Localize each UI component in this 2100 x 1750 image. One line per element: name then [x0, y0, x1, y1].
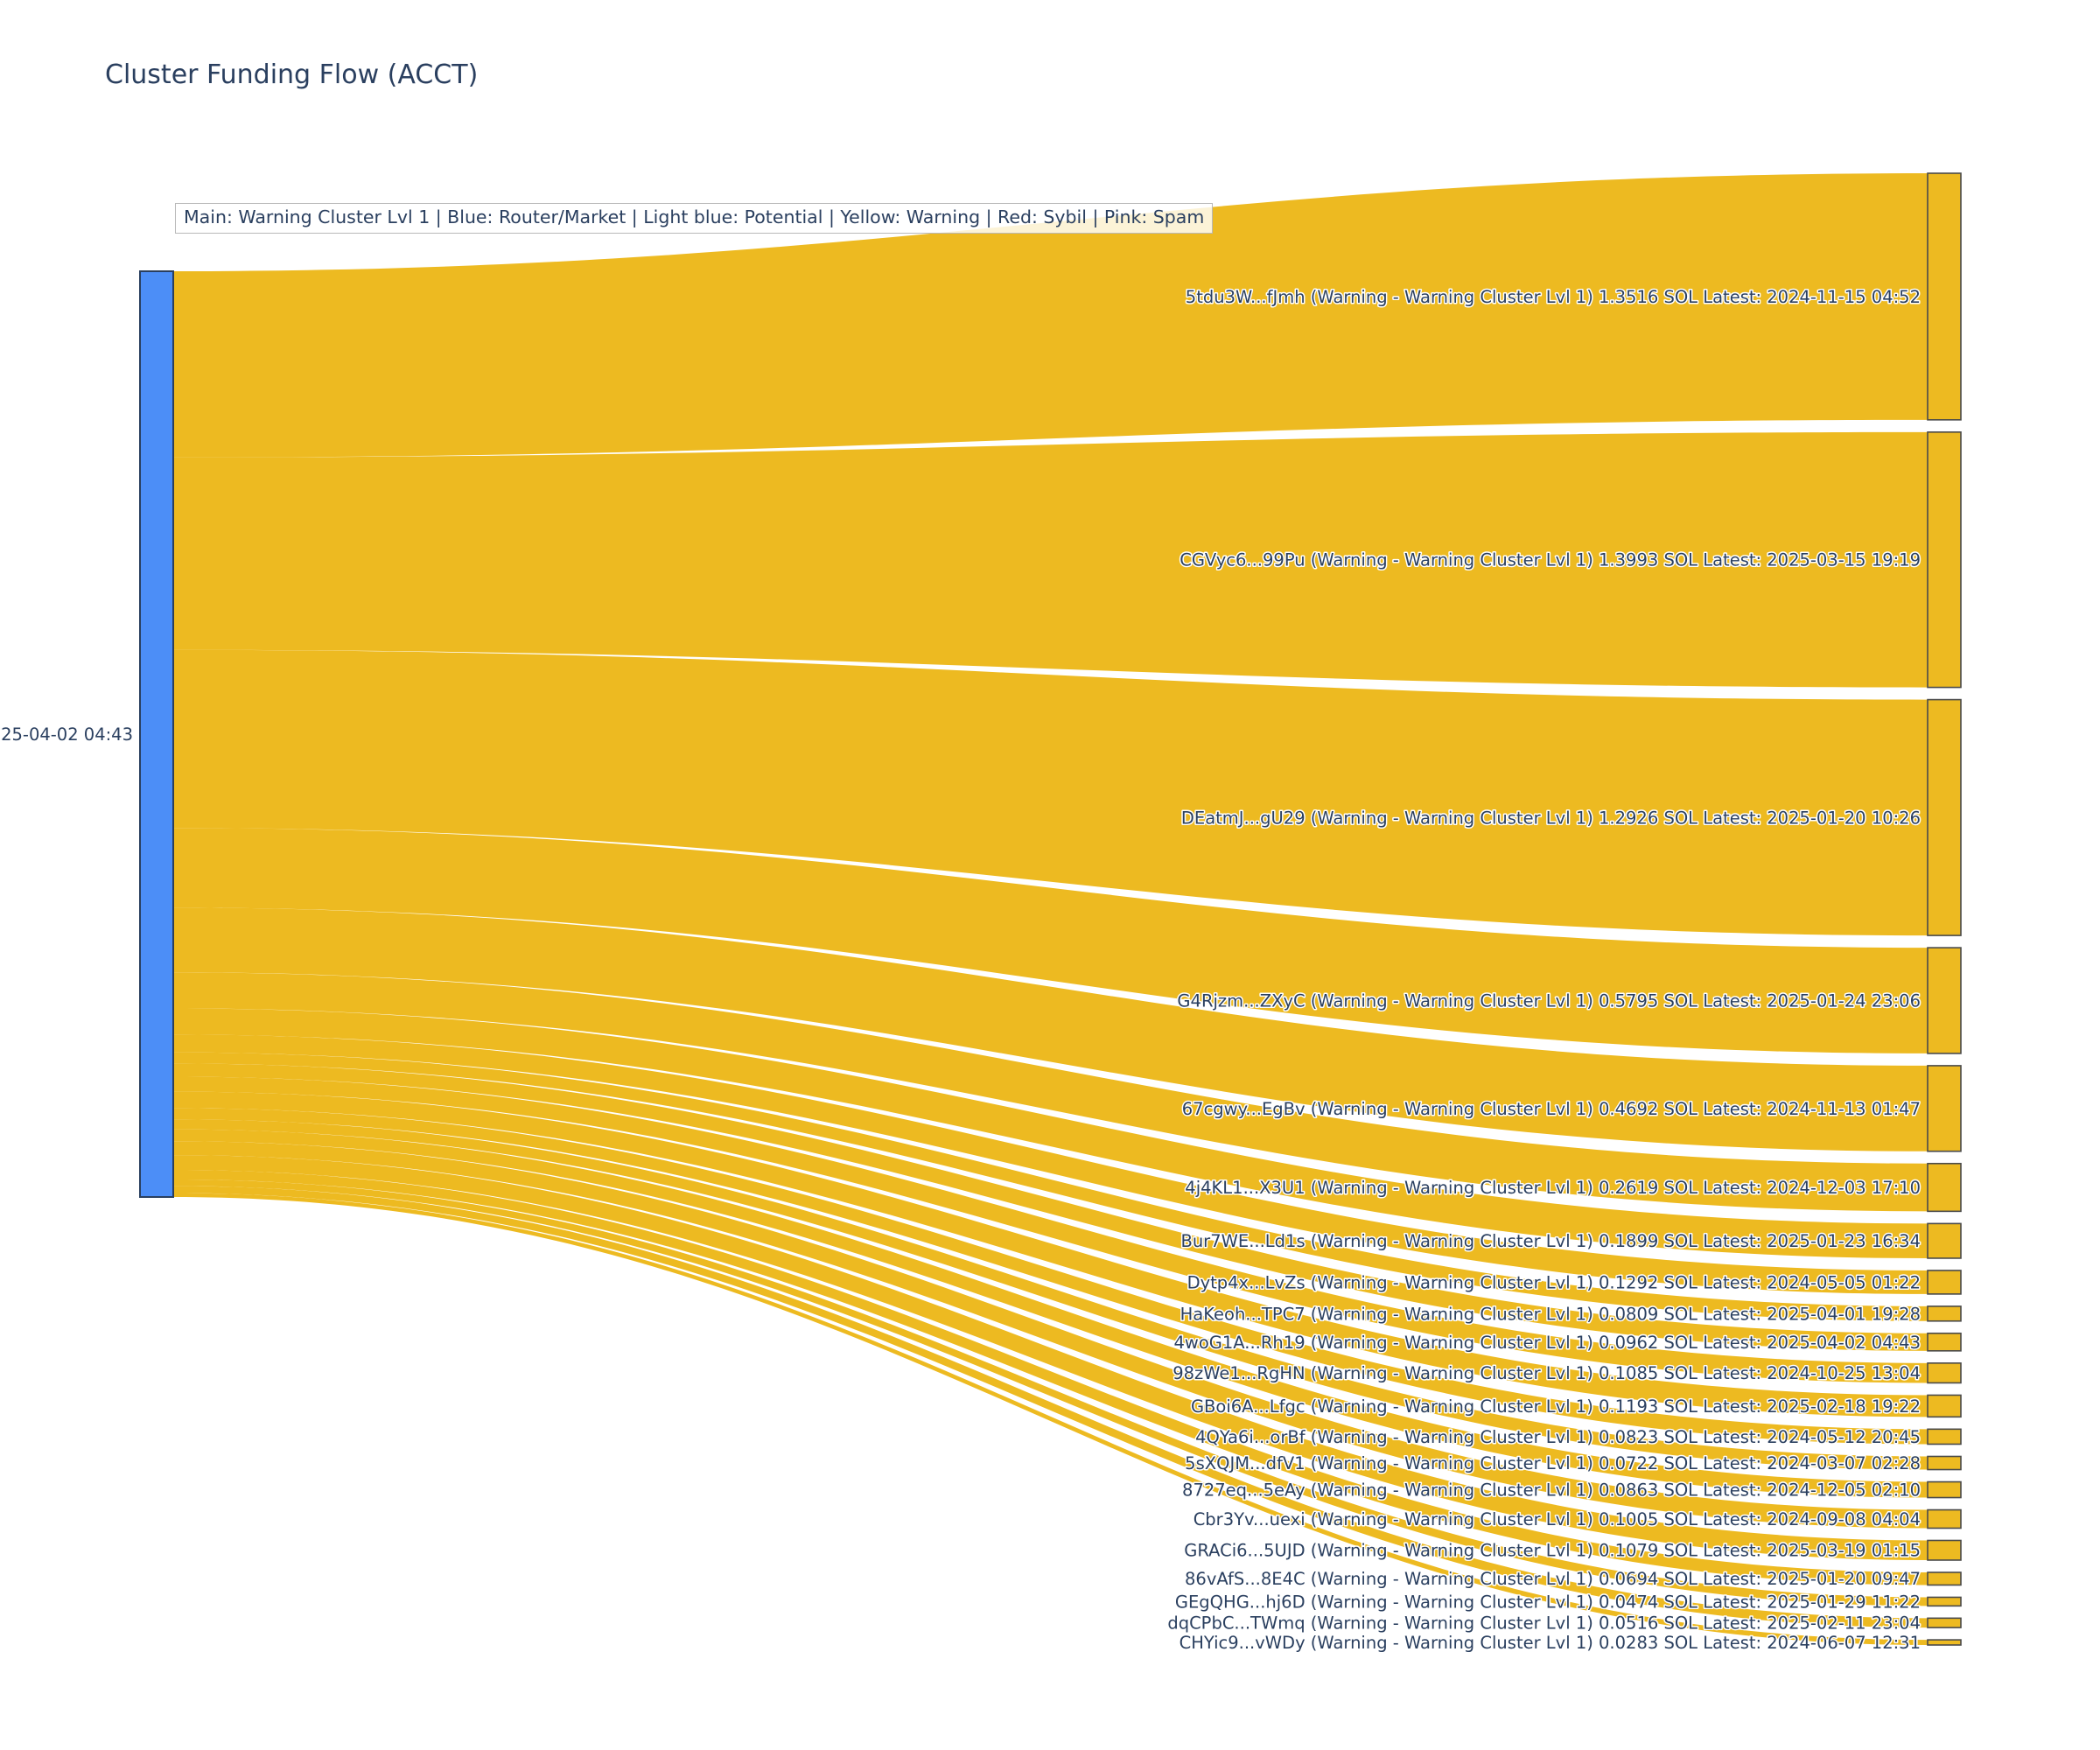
sankey-target-node[interactable] [1928, 1066, 1961, 1151]
sankey-target-node-label: Cbr3Yv...uexi (Warning - Warning Cluster… [1193, 1509, 1921, 1529]
sankey-target-node-label: GRACi6...5UJD (Warning - Warning Cluster… [1184, 1541, 1921, 1561]
sankey-target-node[interactable] [1928, 1333, 1961, 1351]
sankey-target-node[interactable] [1928, 1223, 1961, 1258]
sankey-target-node[interactable] [1928, 1510, 1961, 1529]
sankey-target-node[interactable] [1928, 432, 1961, 688]
sankey-target-node-label: 67cgwy...EgBv (Warning - Warning Cluster… [1182, 1099, 1921, 1119]
sankey-target-node[interactable] [1928, 1618, 1961, 1627]
sankey-source-node[interactable] [140, 271, 173, 1197]
sankey-links-group [173, 173, 1928, 1645]
sankey-target-node-label: GBoi6A...Lfgc (Warning - Warning Cluster… [1191, 1396, 1921, 1417]
sankey-target-node-label: 5tdu3W...fJmh (Warning - Warning Cluster… [1186, 287, 1921, 307]
sankey-target-node-label: CHYic9...vWDy (Warning - Warning Cluster… [1179, 1633, 1921, 1653]
sankey-source-node-label: H2PVM9...jRxF (Main: Warning Cluster Lvl… [0, 724, 133, 745]
sankey-target-node[interactable] [1928, 1164, 1961, 1212]
sankey-target-node-label: 4QYa6i...orBf (Warning - Warning Cluster… [1195, 1427, 1921, 1447]
sankey-target-node-label: dqCPbC...TWmq (Warning - Warning Cluster… [1167, 1613, 1921, 1634]
sankey-chart-root: Cluster Funding Flow (ACCT) H2PVM9...jRx… [0, 0, 2100, 1750]
sankey-target-node[interactable] [1928, 700, 1961, 936]
sankey-target-node-label: DEatmJ...gU29 (Warning - Warning Cluster… [1181, 808, 1921, 828]
sankey-target-node[interactable] [1928, 1540, 1961, 1559]
sankey-target-node[interactable] [1928, 1597, 1961, 1606]
sankey-target-node[interactable] [1928, 1456, 1961, 1469]
sankey-diagram: H2PVM9...jRxF (Main: Warning Cluster Lvl… [0, 0, 2100, 1750]
sankey-target-node-label: 98zWe1...RgHN (Warning - Warning Cluster… [1172, 1363, 1921, 1383]
sankey-target-node-label: Bur7WE...Ld1s (Warning - Warning Cluster… [1180, 1231, 1921, 1251]
sankey-target-node[interactable] [1928, 1572, 1961, 1585]
sankey-target-node-label: GEgQHG...hj6D (Warning - Warning Cluster… [1175, 1592, 1921, 1612]
sankey-target-node[interactable] [1928, 948, 1961, 1053]
sankey-target-node[interactable] [1928, 173, 1961, 420]
legend-annotation: Main: Warning Cluster Lvl 1 | Blue: Rout… [175, 203, 1213, 234]
sankey-target-node-label: 4woG1A...Rh19 (Warning - Warning Cluster… [1173, 1333, 1921, 1353]
sankey-target-node[interactable] [1928, 1640, 1961, 1645]
sankey-target-node-label: 4j4KL1...X3U1 (Warning - Warning Cluster… [1185, 1178, 1921, 1198]
sankey-target-node[interactable] [1928, 1306, 1961, 1321]
sankey-target-node[interactable] [1928, 1482, 1961, 1498]
sankey-target-node[interactable] [1928, 1270, 1961, 1294]
sankey-target-node[interactable] [1928, 1395, 1961, 1417]
sankey-target-node-label: HaKeoh...TPC7 (Warning - Warning Cluster… [1180, 1304, 1921, 1324]
sankey-target-node[interactable] [1928, 1363, 1961, 1383]
sankey-target-node-label: 8727eq...5eAy (Warning - Warning Cluster… [1182, 1480, 1921, 1501]
sankey-target-node-label: CGVyc6...99Pu (Warning - Warning Cluster… [1179, 550, 1921, 570]
sankey-target-node-label: G4Rjzm...ZXyC (Warning - Warning Cluster… [1177, 991, 1921, 1011]
sankey-target-node-label: Dytp4x...LvZs (Warning - Warning Cluster… [1187, 1272, 1921, 1292]
sankey-target-node-label: 5sXQJM...dfV1 (Warning - Warning Cluster… [1185, 1453, 1921, 1473]
sankey-target-node[interactable] [1928, 1429, 1961, 1444]
sankey-target-node-label: 86vAfS...8E4C (Warning - Warning Cluster… [1185, 1569, 1921, 1589]
